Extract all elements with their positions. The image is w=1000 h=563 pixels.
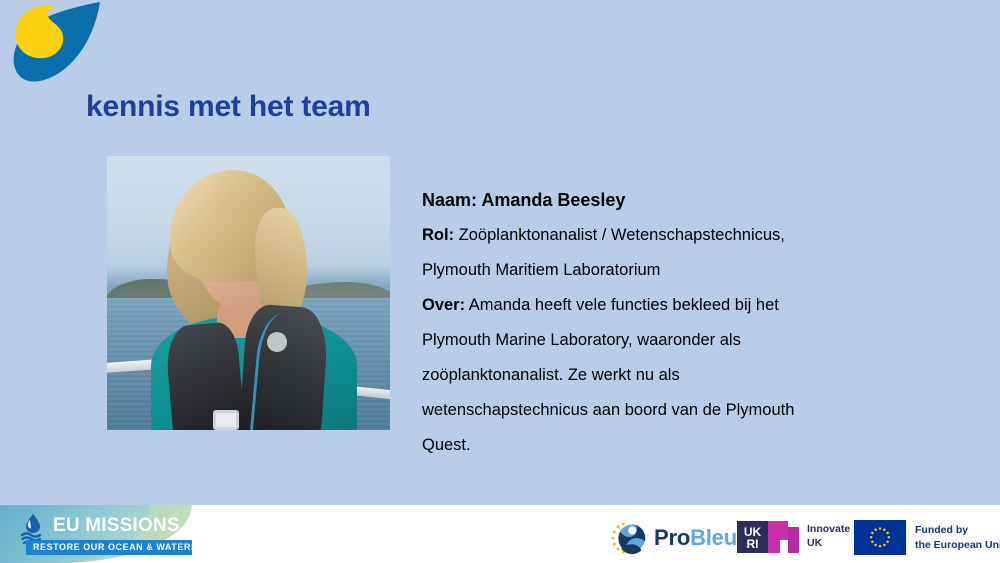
ukri-magenta-block-3 <box>788 527 799 553</box>
eu-missions-title: EU MISSIONS <box>53 516 180 535</box>
photo-person <box>107 156 390 430</box>
bio-about-text-1: Amanda heeft vele functies bekleed bij h… <box>469 296 779 314</box>
bio-about-line-3: zoöplanktonanalist. Ze werkt nu als <box>422 358 892 393</box>
droplet-logo-icon <box>4 0 106 100</box>
innovate-uk-label-line-2: UK <box>807 537 850 551</box>
probleu-logo: ProBleu <box>610 519 737 557</box>
bio-about-label: Over: <box>422 296 465 314</box>
bio-name-value: Amanda Beesley <box>481 190 625 210</box>
ukri-magenta-block-2 <box>768 540 780 553</box>
probleu-word-pro: Pro <box>654 525 690 550</box>
innovate-uk-label-line-1: Innovate <box>807 523 850 537</box>
bio-name-label: Naam: <box>422 190 477 210</box>
footer-bar: EU MISSIONS RESTORE OUR OCEAN & WATERS <box>0 505 1000 563</box>
eu-missions-badge: EU MISSIONS RESTORE OUR OCEAN & WATERS <box>0 505 192 563</box>
bio-about-line-4: wetenschapstechnicus aan boord van de Pl… <box>422 393 892 428</box>
page-title: kennis met het team <box>86 89 371 125</box>
innovate-uk-label: Innovate UK <box>807 523 850 551</box>
bio-role-line-1: Rol: Zoöplanktonanalist / Wetenschapstec… <box>422 218 892 253</box>
eu-funding-logo: Funded by the European Union <box>854 520 1000 555</box>
eu-funding-label-line-2: the European Union <box>915 538 1000 552</box>
ukri-innovate-uk-logo: UK RI Innovate UK <box>737 521 850 553</box>
probleu-swirl-icon <box>610 519 648 557</box>
bio-role-text-1: Zoöplanktonanalist / Wetenschapstechnicu… <box>459 226 785 244</box>
probleu-word-bleu: Bleu <box>690 525 737 550</box>
bio-about-line-1: Over: Amanda heeft vele functies bekleed… <box>422 288 892 323</box>
slide-root: kennis met het team <box>0 0 1000 563</box>
svg-text:RI: RI <box>747 537 759 551</box>
bio-about-line-2: Plymouth Marine Laboratory, waaronder al… <box>422 323 892 358</box>
ukri-mark-icon: UK RI <box>737 521 799 553</box>
bio-about-line-5: Quest. <box>422 428 892 463</box>
bio-role-label: Rol: <box>422 226 454 244</box>
eu-funding-label-line-1: Funded by <box>915 523 1000 537</box>
photo-lifevest-logo <box>267 332 287 352</box>
eu-flag-icon <box>854 520 906 555</box>
photo-lifevest-buckle <box>213 410 239 430</box>
team-member-photo <box>107 156 390 430</box>
probleu-wordmark: ProBleu <box>654 527 737 549</box>
photo-image <box>107 156 390 430</box>
ukri-square: UK RI <box>737 521 768 553</box>
eu-missions-subtitle: RESTORE OUR OCEAN & WATERS <box>26 540 192 555</box>
bio-name-line: Naam: Amanda Beesley <box>422 183 892 218</box>
bio-text-block: Naam: Amanda Beesley Rol: Zoöplanktonana… <box>422 183 892 463</box>
ukri-magenta-block-1 <box>768 521 788 540</box>
bio-role-line-2: Plymouth Maritiem Laboratorium <box>422 253 892 288</box>
eu-funding-label: Funded by the European Union <box>915 523 1000 551</box>
